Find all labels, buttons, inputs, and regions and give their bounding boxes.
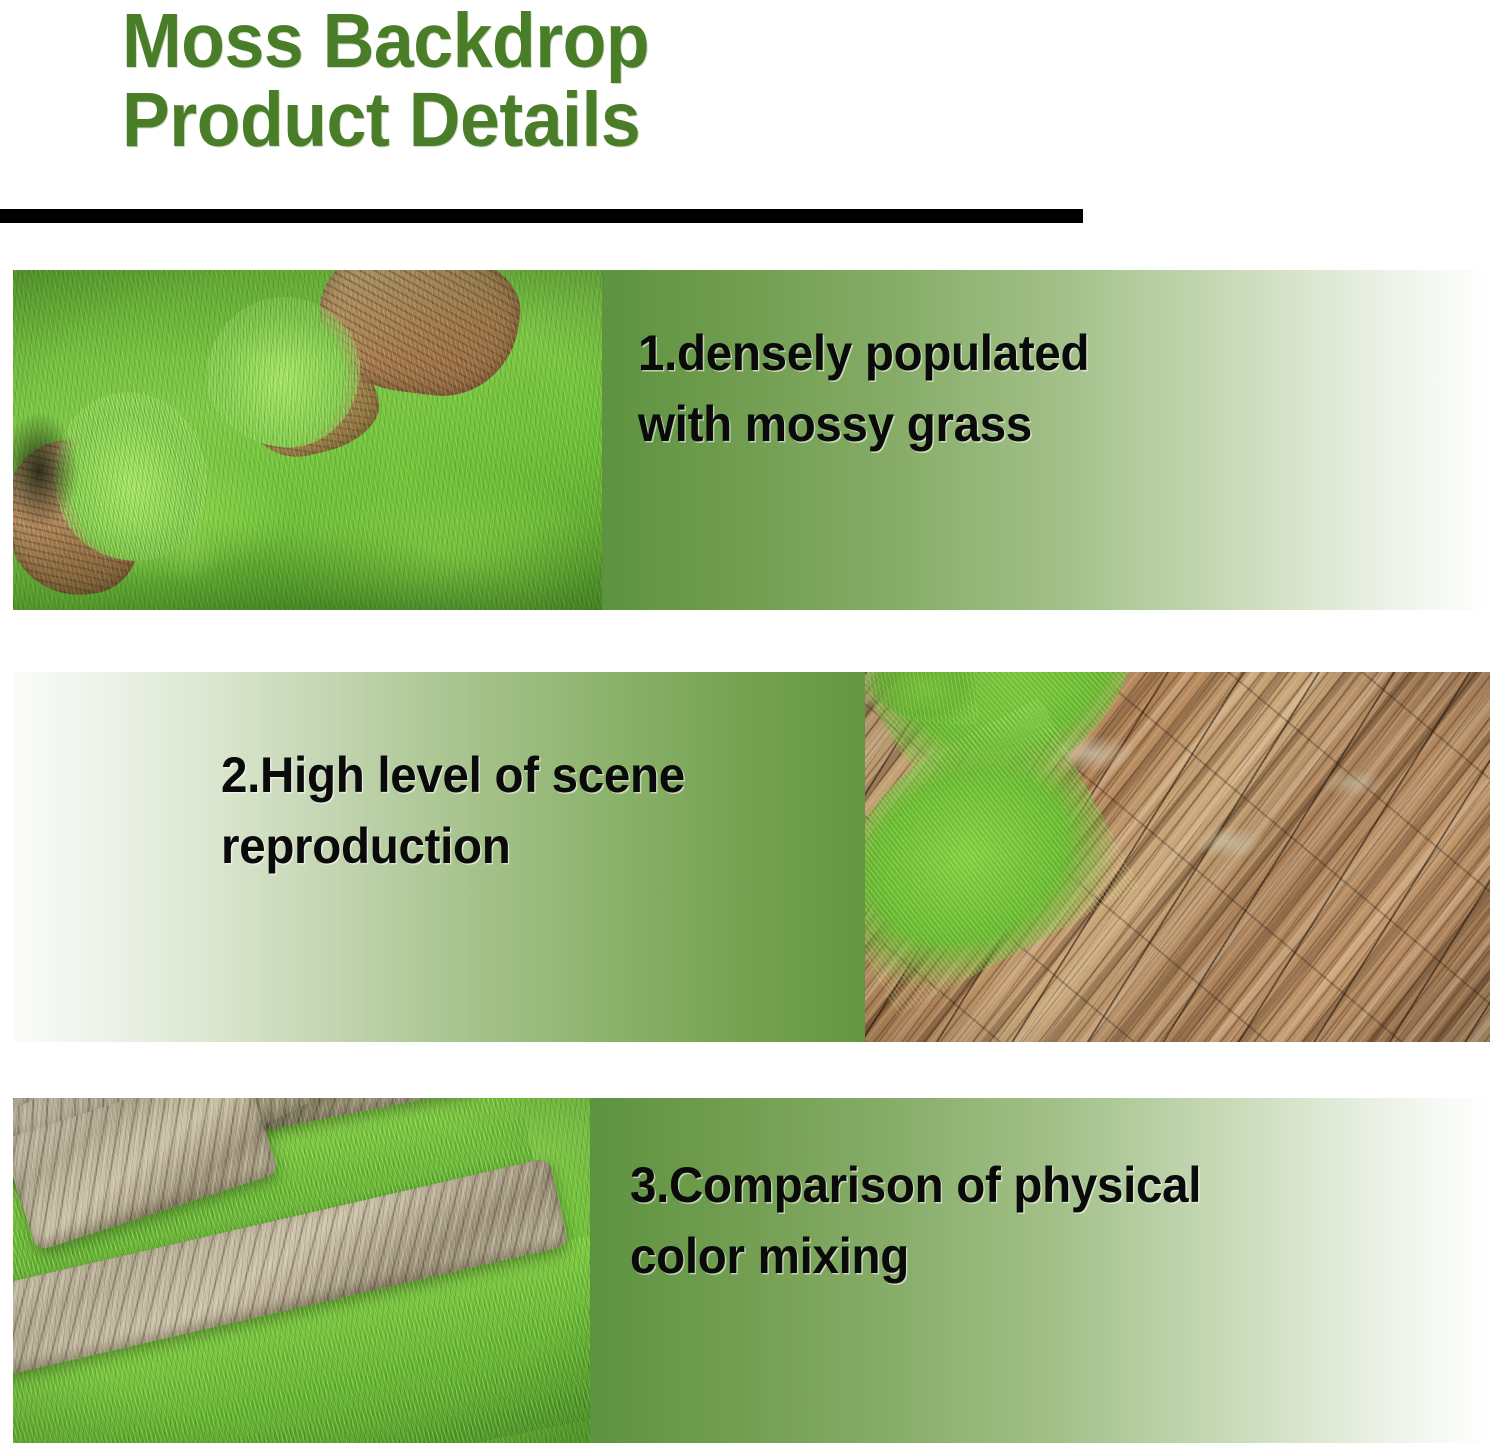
- feature-photo-bark-moss-mix: [13, 1098, 590, 1443]
- feature-row-3: 3.Comparison of physical color mixing: [13, 1098, 1490, 1443]
- feature-band-1: 1.densely populated with mossy grass: [602, 270, 1490, 610]
- feature-band-2: 2.High level of scene reproduction: [13, 672, 865, 1042]
- title-underline-rule: [0, 209, 1083, 223]
- photo-vignette: [865, 672, 1490, 1042]
- feature-text-1: 1.densely populated with mossy grass: [638, 318, 1303, 460]
- feature-photo-moss-grass: [13, 270, 602, 610]
- feature-photo-bark-scene: [865, 672, 1490, 1042]
- page-header: Moss Backdrop Product Details: [0, 0, 1490, 260]
- feature-row-2: 2.High level of scene reproduction: [13, 672, 1490, 1042]
- feature-text-3: 3.Comparison of physical color mixing: [630, 1150, 1371, 1292]
- photo-vignette: [13, 1098, 590, 1443]
- feature-text-2: 2.High level of scene reproduction: [221, 740, 829, 882]
- feature-band-3: 3.Comparison of physical color mixing: [590, 1098, 1490, 1443]
- photo-vignette: [13, 270, 602, 610]
- feature-row-1: 1.densely populated with mossy grass: [13, 270, 1490, 610]
- page-title: Moss Backdrop Product Details: [122, 2, 1052, 159]
